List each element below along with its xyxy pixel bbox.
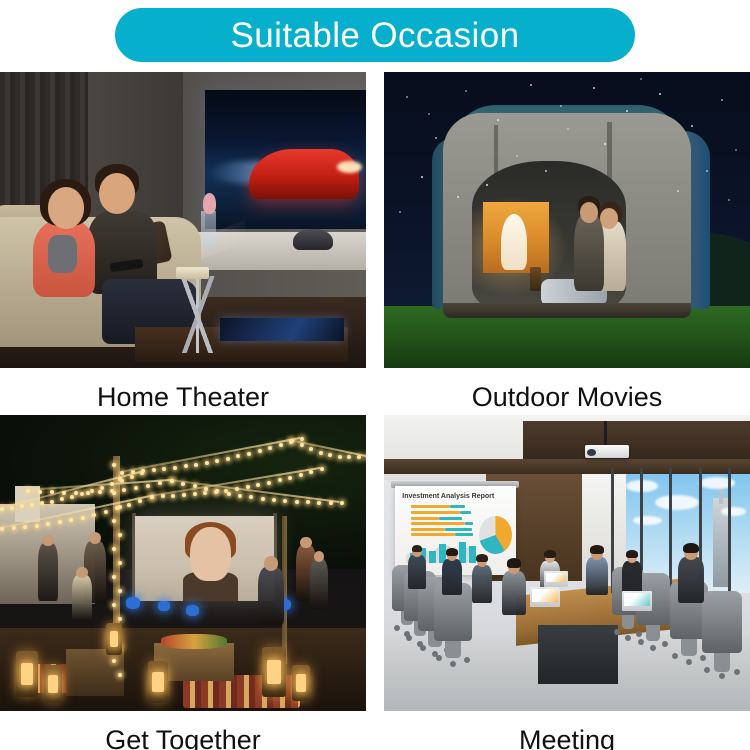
movie-figure (501, 214, 527, 270)
panel-outdoor-movies: Outdoor Movies (384, 72, 750, 411)
string-light-bulb (299, 473, 303, 477)
slide-hbar-teal (450, 505, 465, 508)
slide-hbar-teal (455, 533, 473, 536)
photo-home-theater (0, 72, 366, 368)
string-light-bulb (267, 481, 271, 485)
slide-pie-chart (479, 516, 512, 554)
string-light-bulb (238, 494, 242, 498)
star-icon (530, 84, 532, 86)
photo-get-together (0, 415, 366, 711)
string-light-bulb (152, 468, 156, 472)
slide-vbar (469, 546, 476, 563)
meeting-attendee (472, 565, 492, 603)
slide-vbar (459, 542, 466, 563)
string-light-bulb (226, 457, 230, 461)
star-icon (593, 87, 595, 89)
cloud (633, 516, 662, 525)
woman-head-tent (600, 208, 618, 229)
blue-accent-light (158, 601, 170, 611)
slide-hbar-orange (411, 517, 439, 520)
tablet-on-table (220, 318, 344, 342)
party-guest-head (89, 532, 101, 544)
slide-hbar-teal (465, 522, 473, 525)
star-icon (604, 143, 606, 145)
string-light-bulb (290, 439, 294, 443)
string-light-bulb (38, 490, 42, 494)
star-icon (516, 155, 518, 157)
vase (201, 211, 216, 249)
star-icon (659, 93, 661, 95)
party-guest-head (264, 556, 279, 571)
string-light-bulb (118, 673, 122, 677)
tripod (172, 276, 223, 353)
string-light-bulb (98, 490, 102, 494)
slide-hbar-teal (445, 528, 472, 531)
caption-meeting: Meeting (384, 711, 750, 750)
string-light-bulb (279, 443, 283, 447)
header-banner: Suitable Occasion (115, 8, 635, 62)
string-light-bulb (0, 527, 4, 531)
string-light-bulb (118, 477, 122, 481)
page-title: Suitable Occasion (231, 18, 520, 53)
string-light-bulb (338, 455, 342, 459)
chair-wheel (650, 645, 656, 651)
string-light-bulb (112, 547, 116, 551)
star-icon (406, 96, 408, 98)
party-guest-head (76, 567, 87, 578)
photo-outdoor-movies (384, 72, 750, 368)
chair-wheel (420, 645, 426, 651)
string-light-bulb (112, 463, 116, 467)
meeting-attendee (678, 557, 704, 603)
slide-hbar-orange (411, 528, 445, 531)
star-icon (545, 170, 547, 172)
string-light-bulb (146, 484, 150, 488)
string-light-bulb (319, 451, 323, 455)
string-light-bulb (112, 603, 116, 607)
party-guest-head (42, 535, 53, 546)
string-light-bulb (357, 455, 361, 459)
attendee-hair (590, 545, 603, 554)
string-light-bulb (50, 500, 54, 504)
string-light-bulb (340, 501, 344, 505)
party-guest (258, 567, 284, 625)
woman-top (48, 235, 77, 273)
star-icon (721, 99, 723, 101)
string-light-bulb (81, 516, 85, 520)
chair-wheel (734, 669, 740, 675)
string-light-bulb (62, 491, 66, 495)
string-light-bulb (227, 492, 231, 496)
lantern (148, 661, 168, 703)
string-light-bulb (182, 493, 186, 497)
product-infographic: Suitable Occasion (0, 0, 750, 750)
lantern (262, 647, 286, 697)
chair-wheel (662, 641, 668, 647)
star-icon (465, 90, 467, 92)
projector-mount (604, 421, 608, 448)
cloud (721, 507, 747, 516)
chair-wheel (700, 655, 706, 661)
party-guest (310, 559, 328, 609)
occasion-grid: Home Theater (0, 72, 750, 750)
string-light-bulb (328, 453, 332, 457)
string-light-bulb (118, 589, 122, 593)
chair-wheel (464, 657, 470, 663)
slide-hbar-orange (411, 533, 455, 536)
string-light-bulb (261, 497, 265, 501)
lantern (44, 665, 62, 703)
chair-wheel (672, 653, 678, 659)
chair-wheel (704, 667, 710, 673)
flower (203, 193, 216, 214)
slide-title: Investment Analysis Report (402, 493, 504, 500)
party-guest-head (314, 551, 324, 561)
string-light-bulb (184, 464, 188, 468)
attendee-hair (446, 548, 458, 556)
string-light-bulb (130, 475, 134, 479)
photo-meeting: Investment Analysis Report (384, 415, 750, 711)
string-light-bulb (278, 478, 282, 482)
string-light-bulb (300, 443, 304, 447)
attendee-hair (544, 550, 556, 558)
string-light-bulb (134, 486, 138, 490)
attendee-hair (476, 554, 488, 562)
chair-wheel (638, 639, 644, 645)
window-mullion (669, 468, 672, 592)
string-light-bulb (12, 526, 16, 530)
string-light-bulb (288, 476, 292, 480)
ceiling-beam-2 (384, 459, 750, 474)
speaker (293, 229, 333, 250)
star-icon (560, 105, 562, 107)
laptop-screen (532, 589, 558, 602)
meeting-attendee (408, 555, 426, 589)
slide-hbar-teal (439, 517, 462, 520)
attendee-hair (412, 545, 423, 552)
string-light-bulb (74, 491, 78, 495)
header-banner-wrap: Suitable Occasion (0, 8, 750, 62)
string-light-bulb (247, 452, 251, 456)
star-icon (399, 211, 401, 213)
string-light-bulb (204, 487, 208, 491)
woman-head (48, 187, 85, 228)
string-light-bulb (295, 500, 299, 504)
string-light-bulb (193, 492, 197, 496)
laptop-screen (546, 573, 566, 582)
meeting-attendee (502, 571, 526, 615)
car-headlight (337, 161, 363, 173)
panel-home-theater: Home Theater (0, 72, 366, 411)
lantern (106, 623, 122, 655)
panel-get-together: Get Together (0, 415, 366, 750)
string-light-bulb (118, 533, 122, 537)
chair-wheel (450, 661, 456, 667)
projector-lens (587, 449, 596, 456)
string-light-bulb (30, 503, 34, 507)
star-icon (421, 176, 423, 178)
string-light-bulb (112, 575, 116, 579)
string-light-bulb (112, 491, 116, 495)
chair-wheel (614, 629, 620, 635)
string-light-bulb (86, 491, 90, 495)
string-light-bulb (173, 466, 177, 470)
caption-home-theater: Home Theater (0, 368, 366, 411)
lantern (16, 651, 38, 697)
chair-wheel (394, 625, 400, 631)
slide-hbar-orange (411, 522, 465, 525)
food-platter (161, 634, 227, 649)
string-light-bulb (112, 659, 116, 663)
cloud (655, 495, 699, 510)
string-light-bulb (26, 489, 30, 493)
chair-wheel (625, 635, 631, 641)
office-chair (702, 591, 742, 653)
string-light-bulb (118, 561, 122, 565)
star-icon (435, 137, 437, 139)
party-guest-head (300, 537, 311, 548)
party-guest (38, 543, 58, 601)
lantern (292, 665, 310, 701)
string-light-bulb (131, 470, 135, 474)
string-light-bulb (317, 501, 321, 505)
string-light-bulb (104, 510, 108, 514)
caption-get-together: Get Together (0, 711, 366, 750)
string-light-bulb (170, 479, 174, 483)
star-icon (691, 125, 693, 127)
string-light-bulb (320, 467, 324, 471)
string-light-bulb (112, 519, 116, 523)
chair-wheel (686, 659, 692, 665)
star-icon (428, 113, 430, 115)
slide-hbar-orange (411, 511, 460, 514)
man-head-tent (580, 202, 598, 223)
star-icon (706, 170, 708, 172)
caption-outdoor-movies: Outdoor Movies (384, 368, 750, 411)
string-light-bulb (127, 503, 131, 507)
slide-hbar-teal (460, 511, 471, 514)
string-light-bulb (70, 495, 74, 499)
laptop-screen (624, 593, 650, 606)
chair-wheel (719, 673, 725, 679)
meeting-attendee (586, 557, 608, 595)
string-light-bulb (120, 471, 124, 475)
string-light-bulb (122, 488, 126, 492)
man-body-tent (574, 214, 603, 291)
string-light-bulb (23, 525, 27, 529)
wooden-crate (66, 649, 125, 696)
attendee-hair (683, 543, 699, 553)
panel-meeting: Investment Analysis Report Meeting (384, 415, 750, 750)
string-light-bulb (118, 505, 122, 509)
table-base (538, 625, 619, 684)
attendee-hair (507, 558, 521, 568)
string-light-bulb (205, 461, 209, 465)
chair-wheel (636, 631, 642, 637)
string-light-bulb (272, 498, 276, 502)
string-light-bulb (194, 463, 198, 467)
red-sports-car (249, 149, 359, 199)
camp-lantern (530, 267, 541, 291)
string-light-bulb (10, 506, 14, 510)
window-mullion (728, 468, 731, 592)
string-light-bulb (35, 524, 39, 528)
chair-wheel (406, 635, 412, 641)
slide-hbar-orange (411, 505, 450, 508)
star-icon (640, 78, 642, 80)
blue-accent-light (186, 605, 199, 616)
mini-projector (176, 267, 209, 279)
string-light-bulb (258, 449, 262, 453)
string-light-bulb (150, 495, 154, 499)
string-light-bulb (0, 507, 4, 511)
star-icon (728, 199, 730, 201)
star-icon (735, 149, 737, 151)
meeting-attendee (442, 559, 462, 595)
blue-accent-light (126, 597, 140, 609)
movie-face (190, 527, 230, 580)
string-light-bulb (329, 501, 333, 505)
chair-wheel (436, 655, 442, 661)
slide-vbar (429, 551, 436, 563)
attendee-hair (626, 550, 638, 558)
party-guest (72, 575, 92, 621)
tent-base (443, 303, 692, 318)
string-light-bulb (118, 617, 122, 621)
